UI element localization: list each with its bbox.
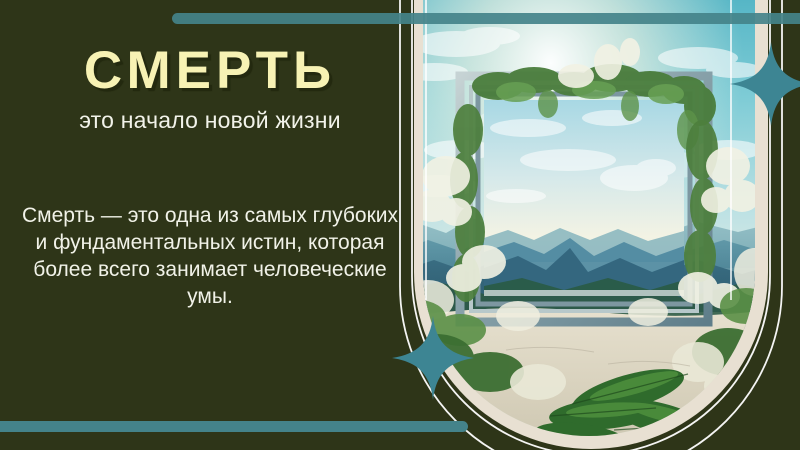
slide-canvas: СМЕРТЬ это начало новой жизни Смерть — э…: [0, 0, 800, 450]
text-column: СМЕРТЬ это начало новой жизни Смерть — э…: [0, 0, 420, 450]
page-title: СМЕРТЬ: [0, 44, 420, 97]
top-accent-bar: [172, 13, 800, 24]
four-point-star-left-icon: [392, 316, 474, 400]
four-point-star-right-icon: [730, 42, 800, 126]
page-subtitle: это начало новой жизни: [0, 108, 420, 133]
body-paragraph: Смерть — это одна из самых глубоких и фу…: [20, 203, 400, 311]
stone-portal-frame: [460, 76, 708, 322]
bottom-accent-bar: [0, 421, 468, 432]
